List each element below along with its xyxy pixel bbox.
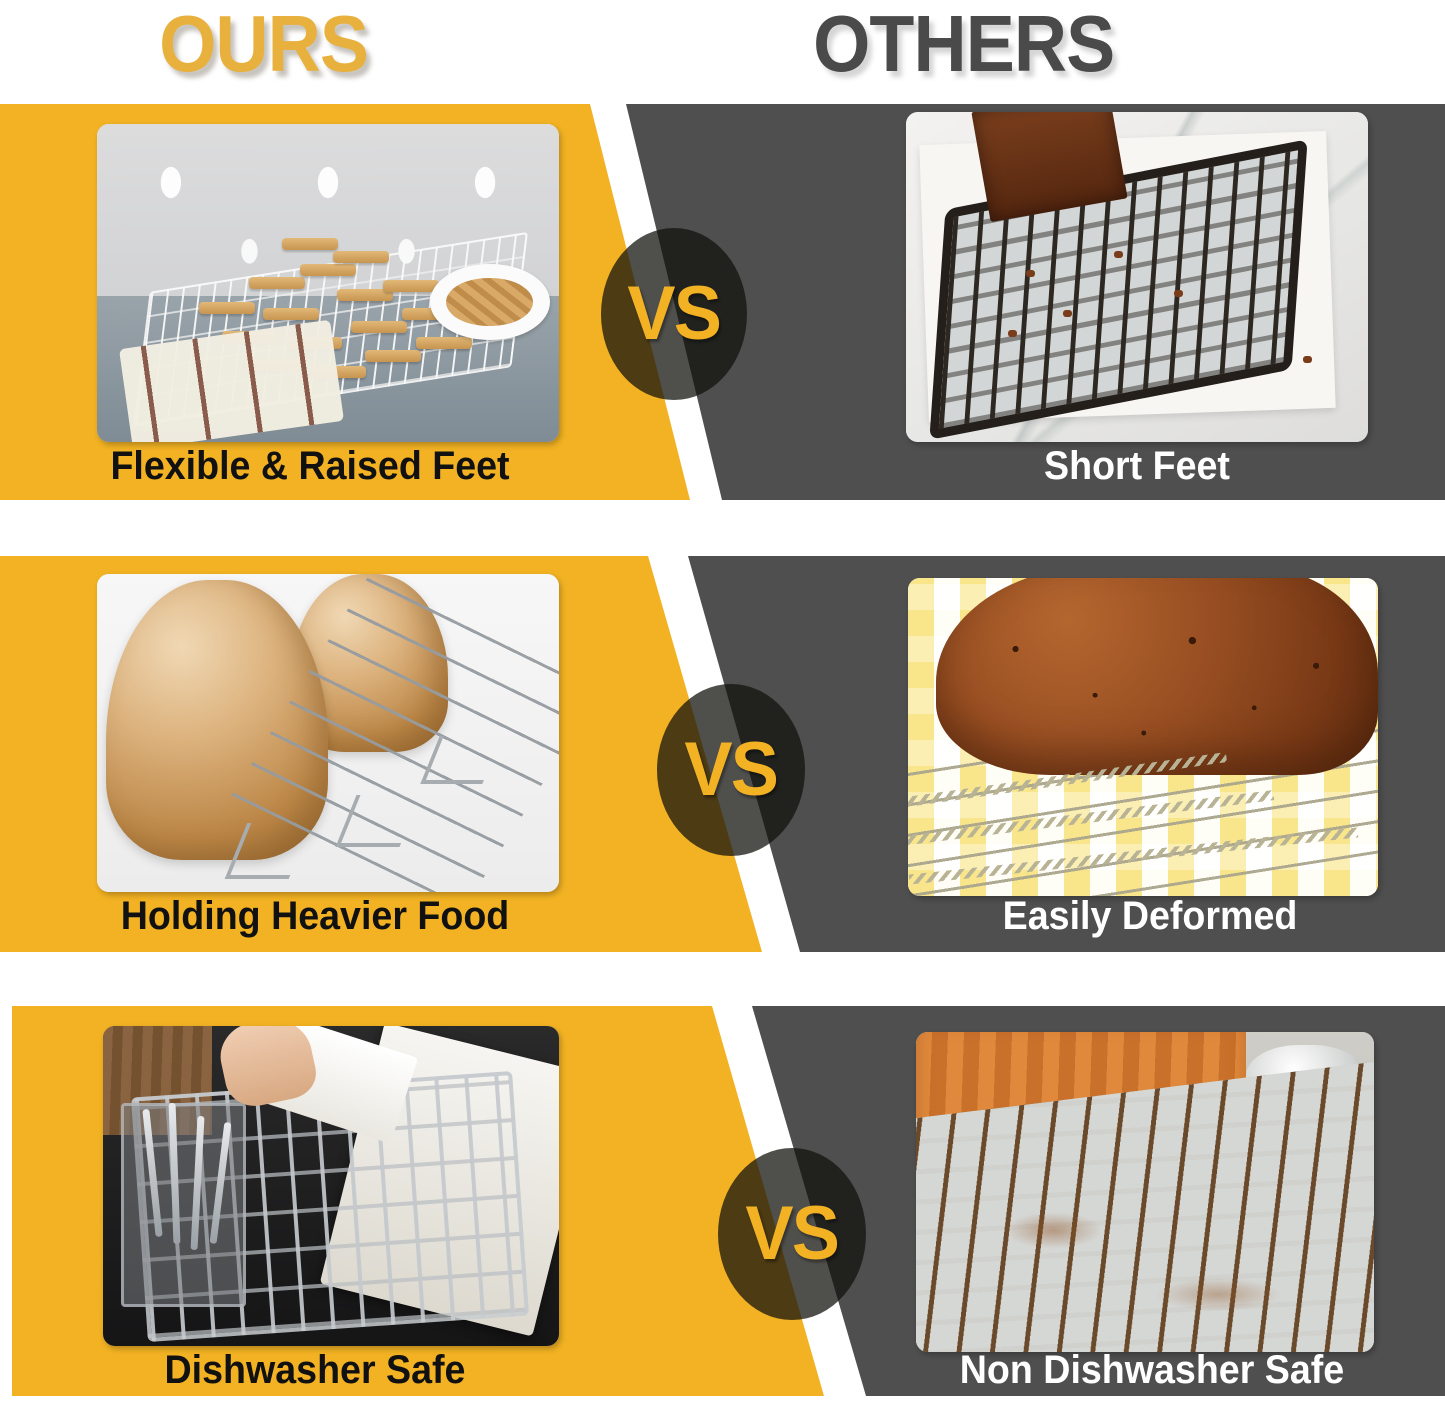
bread-loaves-on-rack-photo xyxy=(97,574,559,892)
ours-caption-1: Flexible & Raised Feet xyxy=(19,442,602,490)
deformed-thin-rack-photo xyxy=(908,578,1378,896)
dishwasher-loading-photo xyxy=(103,1026,559,1346)
others-caption-1: Short Feet xyxy=(893,442,1382,490)
rusty-mesh-rack-photo xyxy=(916,1032,1374,1352)
vs-badge-2: VS xyxy=(657,684,805,856)
vs-label-3: VS xyxy=(746,1196,839,1272)
comparison-row-2: Holding Heavier Food VS Easily Deformed xyxy=(0,556,1445,952)
comparison-header: OURS OTHERS xyxy=(0,0,1445,96)
others-caption-3: Non Dishwasher Safe xyxy=(889,1346,1415,1394)
vs-label-1: VS xyxy=(628,276,721,352)
vs-label-2: VS xyxy=(685,732,778,808)
ours-caption-3: Dishwasher Safe xyxy=(19,1346,611,1394)
comparison-row-1: Flexible & Raised Feet VS Short Feet xyxy=(0,104,1445,500)
dark-short-foot-rack-photo xyxy=(906,112,1368,442)
ours-caption-2: Holding Heavier Food xyxy=(19,892,611,940)
others-heading: OTHERS xyxy=(813,0,1114,92)
vs-badge-3: VS xyxy=(718,1148,866,1320)
vs-badge-1: VS xyxy=(601,228,747,400)
ours-heading: OURS xyxy=(159,0,368,92)
others-caption-2: Easily Deformed xyxy=(906,892,1395,940)
comparison-row-3: Dishwasher Safe VS Non Dishwasher Safe xyxy=(0,1006,1445,1396)
cookies-on-raised-wire-rack-photo xyxy=(97,124,559,442)
